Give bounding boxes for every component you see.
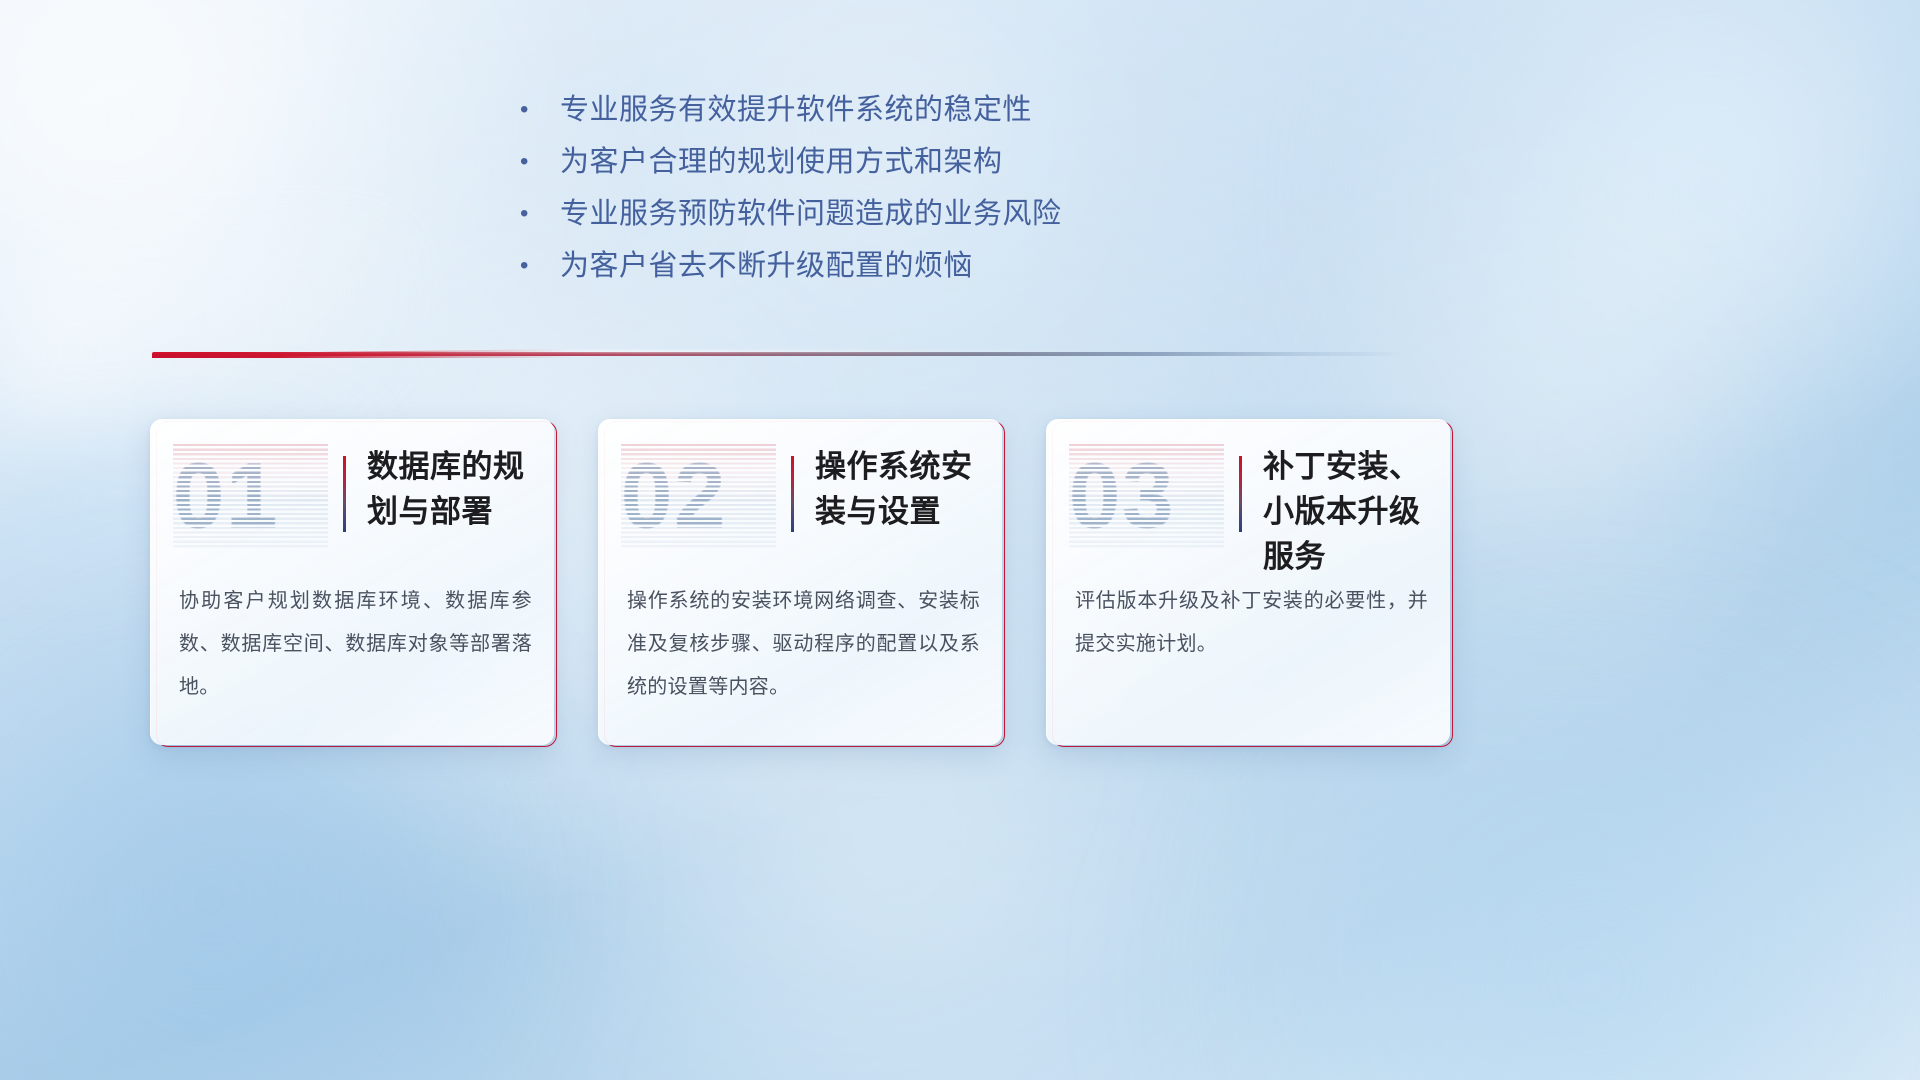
card-body-text: 协助客户规划数据库环境、数据库参数、数据库空间、数据库对象等部署落地。 [179, 580, 532, 709]
service-card-01[interactable]: 01 数据库的规划与部署 协助客户规划数据库环境、数据库参数、数据库空间、数据库… [150, 419, 553, 744]
list-item: • 为客户合理的规划使用方式和架构 [520, 136, 1420, 188]
service-card-row: 01 数据库的规划与部署 协助客户规划数据库环境、数据库参数、数据库空间、数据库… [150, 419, 1450, 744]
bullet-text: 专业服务有效提升软件系统的稳定性 [560, 84, 1032, 136]
card-number-watermark: 03 [1069, 444, 1224, 548]
card-panel: 02 操作系统安装与设置 操作系统的安装环境网络调查、安装标准及复核步骤、驱动程… [598, 419, 1002, 745]
divider-shine [232, 350, 1132, 353]
card-number-watermark: 01 [173, 444, 328, 548]
card-title: 数据库的规划与部署 [367, 444, 540, 534]
card-header: 03 补丁安装、小版本升级服务 [1047, 420, 1450, 568]
list-item: • 专业服务有效提升软件系统的稳定性 [520, 84, 1420, 136]
list-item: • 为客户省去不断升级配置的烦恼 [520, 240, 1420, 292]
card-title-accent-bar [343, 456, 346, 532]
benefits-bullet-list: • 专业服务有效提升软件系统的稳定性 • 为客户合理的规划使用方式和架构 • 专… [520, 84, 1420, 292]
service-card-02[interactable]: 02 操作系统安装与设置 操作系统的安装环境网络调查、安装标准及复核步骤、驱动程… [598, 419, 1001, 744]
bullet-dot-icon: • [520, 84, 560, 136]
bullet-dot-icon: • [520, 240, 560, 292]
card-title-accent-bar [1239, 456, 1242, 532]
card-title: 补丁安装、小版本升级服务 [1263, 444, 1436, 579]
bullet-text: 专业服务预防软件问题造成的业务风险 [560, 188, 1062, 240]
bullet-text: 为客户省去不断升级配置的烦恼 [560, 240, 973, 292]
red-gradient-divider [152, 349, 1407, 359]
bullet-text: 为客户合理的规划使用方式和架构 [560, 136, 1003, 188]
card-panel: 03 补丁安装、小版本升级服务 评估版本升级及补丁安装的必要性，并提交实施计划。 [1046, 419, 1450, 745]
card-panel: 01 数据库的规划与部署 协助客户规划数据库环境、数据库参数、数据库空间、数据库… [150, 419, 554, 745]
card-header: 01 数据库的规划与部署 [151, 420, 554, 568]
bullet-dot-icon: • [520, 188, 560, 240]
service-card-03[interactable]: 03 补丁安装、小版本升级服务 评估版本升级及补丁安装的必要性，并提交实施计划。 [1046, 419, 1449, 744]
card-number-watermark: 02 [621, 444, 776, 548]
list-item: • 专业服务预防软件问题造成的业务风险 [520, 188, 1420, 240]
card-title: 操作系统安装与设置 [815, 444, 988, 534]
bullet-dot-icon: • [520, 136, 560, 188]
card-header: 02 操作系统安装与设置 [599, 420, 1002, 568]
card-body-text: 操作系统的安装环境网络调查、安装标准及复核步骤、驱动程序的配置以及系统的设置等内… [627, 580, 980, 709]
card-body-text: 评估版本升级及补丁安装的必要性，并提交实施计划。 [1075, 580, 1428, 666]
card-title-accent-bar [791, 456, 794, 532]
